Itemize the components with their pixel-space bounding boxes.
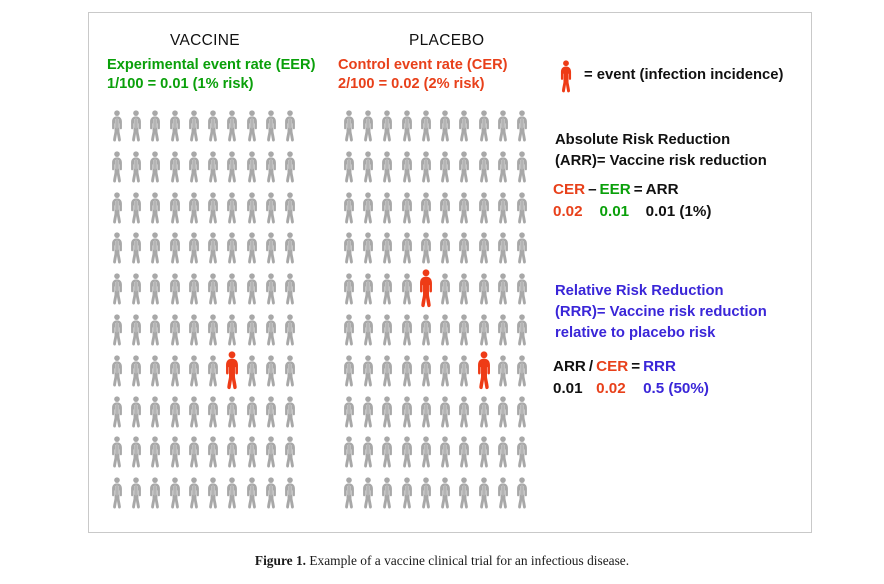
- person-icon: [165, 149, 184, 190]
- person-icon: [435, 434, 454, 475]
- rrr-value-spacer1: [586, 378, 596, 400]
- person-icon: [184, 190, 203, 231]
- person-icon: [146, 271, 165, 312]
- person-icon: [126, 353, 145, 394]
- person-icon: [281, 475, 300, 516]
- person-icon: [358, 312, 377, 353]
- person-icon: [261, 394, 280, 435]
- person-icon: [107, 312, 126, 353]
- person-icon: [455, 108, 474, 149]
- person-icon: [281, 394, 300, 435]
- person-icon: [107, 271, 126, 312]
- person-icon: [223, 230, 242, 271]
- eer-label: Experimental event rate (EER): [107, 56, 315, 75]
- person-event-icon: [416, 271, 435, 312]
- person-icon: [184, 394, 203, 435]
- arr-term-eer: EER: [600, 179, 631, 201]
- cer-rate-block: Control event rate (CER) 2/100 = 0.02 (2…: [338, 56, 507, 94]
- arr-value-cer: 0.02: [553, 201, 585, 223]
- person-icon: [165, 353, 184, 394]
- person-icon: [397, 394, 416, 435]
- arr-formula-terms: CER – EER = ARR: [553, 179, 712, 201]
- placebo-column-title: PLACEBO: [409, 32, 484, 50]
- person-icon: [165, 271, 184, 312]
- person-icon: [493, 353, 512, 394]
- person-icon: [493, 434, 512, 475]
- person-icon: [455, 394, 474, 435]
- person-icon: [107, 434, 126, 475]
- person-icon: [146, 394, 165, 435]
- person-icon: [203, 149, 222, 190]
- person-icon: [397, 271, 416, 312]
- person-icon: [493, 394, 512, 435]
- person-icon: [126, 434, 145, 475]
- person-icon: [223, 108, 242, 149]
- person-icon: [261, 434, 280, 475]
- person-icon: [165, 108, 184, 149]
- person-icon: [203, 108, 222, 149]
- person-icon: [358, 108, 377, 149]
- rrr-term-arr: ARR: [553, 356, 586, 378]
- person-icon: [416, 108, 435, 149]
- person-icon: [358, 394, 377, 435]
- rrr-term-cer: CER: [596, 356, 628, 378]
- person-icon: [242, 312, 261, 353]
- person-icon: [493, 230, 512, 271]
- eer-value: 1/100 = 0.01 (1% risk): [107, 75, 315, 94]
- caption-text: Example of a vaccine clinical trial for …: [306, 553, 629, 568]
- person-icon: [358, 434, 377, 475]
- person-icon: [242, 394, 261, 435]
- rrr-value-result: 0.5 (50%): [643, 378, 709, 400]
- person-icon: [203, 394, 222, 435]
- person-icon: [223, 312, 242, 353]
- person-icon: [378, 353, 397, 394]
- person-icon: [339, 108, 358, 149]
- person-icon: [339, 353, 358, 394]
- person-icon: [474, 475, 493, 516]
- person-icon: [513, 271, 532, 312]
- person-icon: [416, 230, 435, 271]
- person-icon: [165, 312, 184, 353]
- person-icon: [378, 434, 397, 475]
- person-icon: [455, 434, 474, 475]
- person-icon: [242, 190, 261, 231]
- person-icon: [493, 108, 512, 149]
- person-icon: [184, 230, 203, 271]
- person-icon: [107, 149, 126, 190]
- person-icon: [184, 434, 203, 475]
- person-icon: [107, 108, 126, 149]
- person-icon: [455, 312, 474, 353]
- person-icon: [397, 149, 416, 190]
- person-event-icon: [556, 60, 576, 94]
- figure-page: VACCINE PLACEBO Experimental event rate …: [0, 0, 884, 584]
- eer-rate-block: Experimental event rate (EER) 1/100 = 0.…: [107, 56, 315, 94]
- person-icon: [339, 149, 358, 190]
- person-icon: [435, 230, 454, 271]
- cer-value: 2/100 = 0.02 (2% risk): [338, 75, 507, 94]
- person-icon: [146, 190, 165, 231]
- person-icon: [474, 434, 493, 475]
- person-icon: [223, 434, 242, 475]
- person-icon: [261, 312, 280, 353]
- person-icon: [474, 190, 493, 231]
- person-icon: [281, 230, 300, 271]
- person-icon: [203, 353, 222, 394]
- person-icon: [397, 190, 416, 231]
- person-icon: [474, 394, 493, 435]
- person-icon: [435, 149, 454, 190]
- person-icon: [203, 230, 222, 271]
- person-icon: [261, 149, 280, 190]
- person-icon: [455, 353, 474, 394]
- person-icon: [203, 434, 222, 475]
- person-icon: [378, 149, 397, 190]
- person-icon: [455, 149, 474, 190]
- person-icon: [455, 475, 474, 516]
- person-icon: [107, 190, 126, 231]
- arr-operator: –: [585, 179, 599, 201]
- person-icon: [435, 394, 454, 435]
- person-icon: [339, 271, 358, 312]
- person-icon: [378, 312, 397, 353]
- person-icon: [261, 230, 280, 271]
- person-icon: [416, 353, 435, 394]
- person-icon: [281, 108, 300, 149]
- rrr-equals: =: [628, 356, 643, 378]
- person-icon: [513, 230, 532, 271]
- person-icon: [474, 271, 493, 312]
- person-icon: [261, 108, 280, 149]
- person-icon: [493, 271, 512, 312]
- placebo-people-grid: [339, 108, 532, 516]
- person-icon: [513, 353, 532, 394]
- person-icon: [223, 271, 242, 312]
- person-icon: [223, 394, 242, 435]
- person-icon: [261, 190, 280, 231]
- figure-caption: Figure 1. Example of a vaccine clinical …: [0, 553, 884, 569]
- vaccine-column-title: VACCINE: [170, 32, 240, 50]
- person-icon: [126, 230, 145, 271]
- arr-value-result: 0.01 (1%): [646, 201, 712, 223]
- person-icon: [513, 108, 532, 149]
- arr-description: Absolute Risk Reduction (ARR)= Vaccine r…: [555, 130, 767, 172]
- person-icon: [281, 190, 300, 231]
- person-icon: [397, 108, 416, 149]
- person-icon: [397, 434, 416, 475]
- person-icon: [358, 271, 377, 312]
- arr-term-arr: ARR: [646, 179, 712, 201]
- person-icon: [242, 108, 261, 149]
- person-icon: [146, 475, 165, 516]
- rrr-operator: /: [586, 356, 596, 378]
- person-icon: [513, 394, 532, 435]
- person-icon: [339, 394, 358, 435]
- person-icon: [223, 190, 242, 231]
- person-icon: [416, 394, 435, 435]
- legend-label: = event (infection incidence): [584, 67, 783, 83]
- person-icon: [378, 190, 397, 231]
- person-icon: [378, 271, 397, 312]
- person-icon: [126, 149, 145, 190]
- person-icon: [397, 312, 416, 353]
- person-icon: [146, 230, 165, 271]
- rrr-value-spacer2: [628, 378, 643, 400]
- person-icon: [281, 149, 300, 190]
- person-icon: [397, 353, 416, 394]
- person-icon: [493, 475, 512, 516]
- person-icon: [416, 312, 435, 353]
- arr-term-cer: CER: [553, 179, 585, 201]
- person-icon: [165, 434, 184, 475]
- person-icon: [493, 149, 512, 190]
- person-icon: [242, 230, 261, 271]
- person-icon: [358, 475, 377, 516]
- person-event-icon: [223, 353, 242, 394]
- person-icon: [146, 312, 165, 353]
- person-icon: [474, 108, 493, 149]
- person-icon: [184, 353, 203, 394]
- person-icon: [513, 434, 532, 475]
- person-icon: [378, 394, 397, 435]
- person-icon: [358, 149, 377, 190]
- person-icon: [223, 475, 242, 516]
- person-icon: [358, 190, 377, 231]
- person-icon: [378, 108, 397, 149]
- person-icon: [493, 312, 512, 353]
- rrr-formula-terms: ARR / CER = RRR: [553, 356, 709, 378]
- person-icon: [281, 271, 300, 312]
- person-icon: [146, 434, 165, 475]
- person-icon: [165, 475, 184, 516]
- person-icon: [493, 190, 512, 231]
- arr-formula: CER – EER = ARR 0.02 0.01 0.01 (1%): [553, 179, 712, 223]
- person-icon: [165, 190, 184, 231]
- person-event-icon: [474, 353, 493, 394]
- person-icon: [378, 230, 397, 271]
- rrr-term-rrr: RRR: [643, 356, 709, 378]
- person-icon: [281, 353, 300, 394]
- rrr-desc-line1: Relative Risk Reduction: [555, 281, 767, 302]
- person-icon: [203, 190, 222, 231]
- person-icon: [126, 271, 145, 312]
- person-icon: [126, 312, 145, 353]
- person-icon: [455, 190, 474, 231]
- person-icon: [242, 475, 261, 516]
- person-icon: [416, 190, 435, 231]
- person-icon: [126, 190, 145, 231]
- vaccine-people-grid: [107, 108, 300, 516]
- person-icon: [146, 353, 165, 394]
- person-icon: [416, 434, 435, 475]
- person-icon: [513, 149, 532, 190]
- person-icon: [126, 475, 145, 516]
- arr-value-spacer2: [631, 201, 646, 223]
- cer-label: Control event rate (CER): [338, 56, 507, 75]
- person-icon: [184, 475, 203, 516]
- person-icon: [513, 312, 532, 353]
- rrr-desc-line2: (RRR)= Vaccine risk reduction: [555, 302, 767, 323]
- person-icon: [126, 394, 145, 435]
- rrr-value-cer: 0.02: [596, 378, 628, 400]
- arr-equals: =: [631, 179, 646, 201]
- person-icon: [203, 271, 222, 312]
- person-icon: [281, 312, 300, 353]
- person-icon: [435, 475, 454, 516]
- person-icon: [203, 475, 222, 516]
- rrr-formula: ARR / CER = RRR 0.01 0.02 0.5 (50%): [553, 356, 709, 400]
- arr-desc-line1: Absolute Risk Reduction: [555, 130, 767, 151]
- person-icon: [165, 394, 184, 435]
- person-icon: [474, 312, 493, 353]
- person-icon: [242, 353, 261, 394]
- person-icon: [261, 475, 280, 516]
- person-icon: [416, 149, 435, 190]
- legend-row: = event (infection incidence): [556, 60, 806, 94]
- person-icon: [513, 475, 532, 516]
- person-icon: [261, 353, 280, 394]
- person-icon: [107, 475, 126, 516]
- person-icon: [242, 271, 261, 312]
- person-icon: [261, 271, 280, 312]
- person-icon: [378, 475, 397, 516]
- person-icon: [339, 312, 358, 353]
- person-icon: [358, 230, 377, 271]
- rrr-desc-line3: relative to placebo risk: [555, 323, 767, 344]
- person-icon: [397, 230, 416, 271]
- person-icon: [435, 353, 454, 394]
- person-icon: [184, 271, 203, 312]
- person-icon: [435, 312, 454, 353]
- arr-value-eer: 0.01: [600, 201, 631, 223]
- rrr-value-arr: 0.01: [553, 378, 586, 400]
- person-icon: [474, 149, 493, 190]
- person-icon: [339, 475, 358, 516]
- person-icon: [184, 312, 203, 353]
- person-icon: [107, 394, 126, 435]
- rrr-formula-values: 0.01 0.02 0.5 (50%): [553, 378, 709, 400]
- arr-value-spacer1: [585, 201, 599, 223]
- person-icon: [165, 230, 184, 271]
- person-icon: [397, 475, 416, 516]
- person-icon: [107, 230, 126, 271]
- person-icon: [242, 149, 261, 190]
- person-icon: [146, 149, 165, 190]
- person-icon: [339, 190, 358, 231]
- person-icon: [242, 434, 261, 475]
- rrr-description: Relative Risk Reduction (RRR)= Vaccine r…: [555, 281, 767, 344]
- person-icon: [435, 271, 454, 312]
- person-icon: [435, 190, 454, 231]
- person-icon: [223, 149, 242, 190]
- arr-formula-values: 0.02 0.01 0.01 (1%): [553, 201, 712, 223]
- caption-label: Figure 1.: [255, 553, 306, 568]
- person-icon: [107, 353, 126, 394]
- arr-desc-line2: (ARR)= Vaccine risk reduction: [555, 151, 767, 172]
- person-icon: [455, 230, 474, 271]
- person-icon: [358, 353, 377, 394]
- person-icon: [126, 108, 145, 149]
- person-icon: [455, 271, 474, 312]
- person-icon: [184, 108, 203, 149]
- person-icon: [339, 230, 358, 271]
- person-icon: [203, 312, 222, 353]
- person-icon: [474, 230, 493, 271]
- person-icon: [184, 149, 203, 190]
- person-icon: [513, 190, 532, 231]
- person-icon: [416, 475, 435, 516]
- person-icon: [339, 434, 358, 475]
- person-icon: [281, 434, 300, 475]
- person-icon: [435, 108, 454, 149]
- person-icon: [146, 108, 165, 149]
